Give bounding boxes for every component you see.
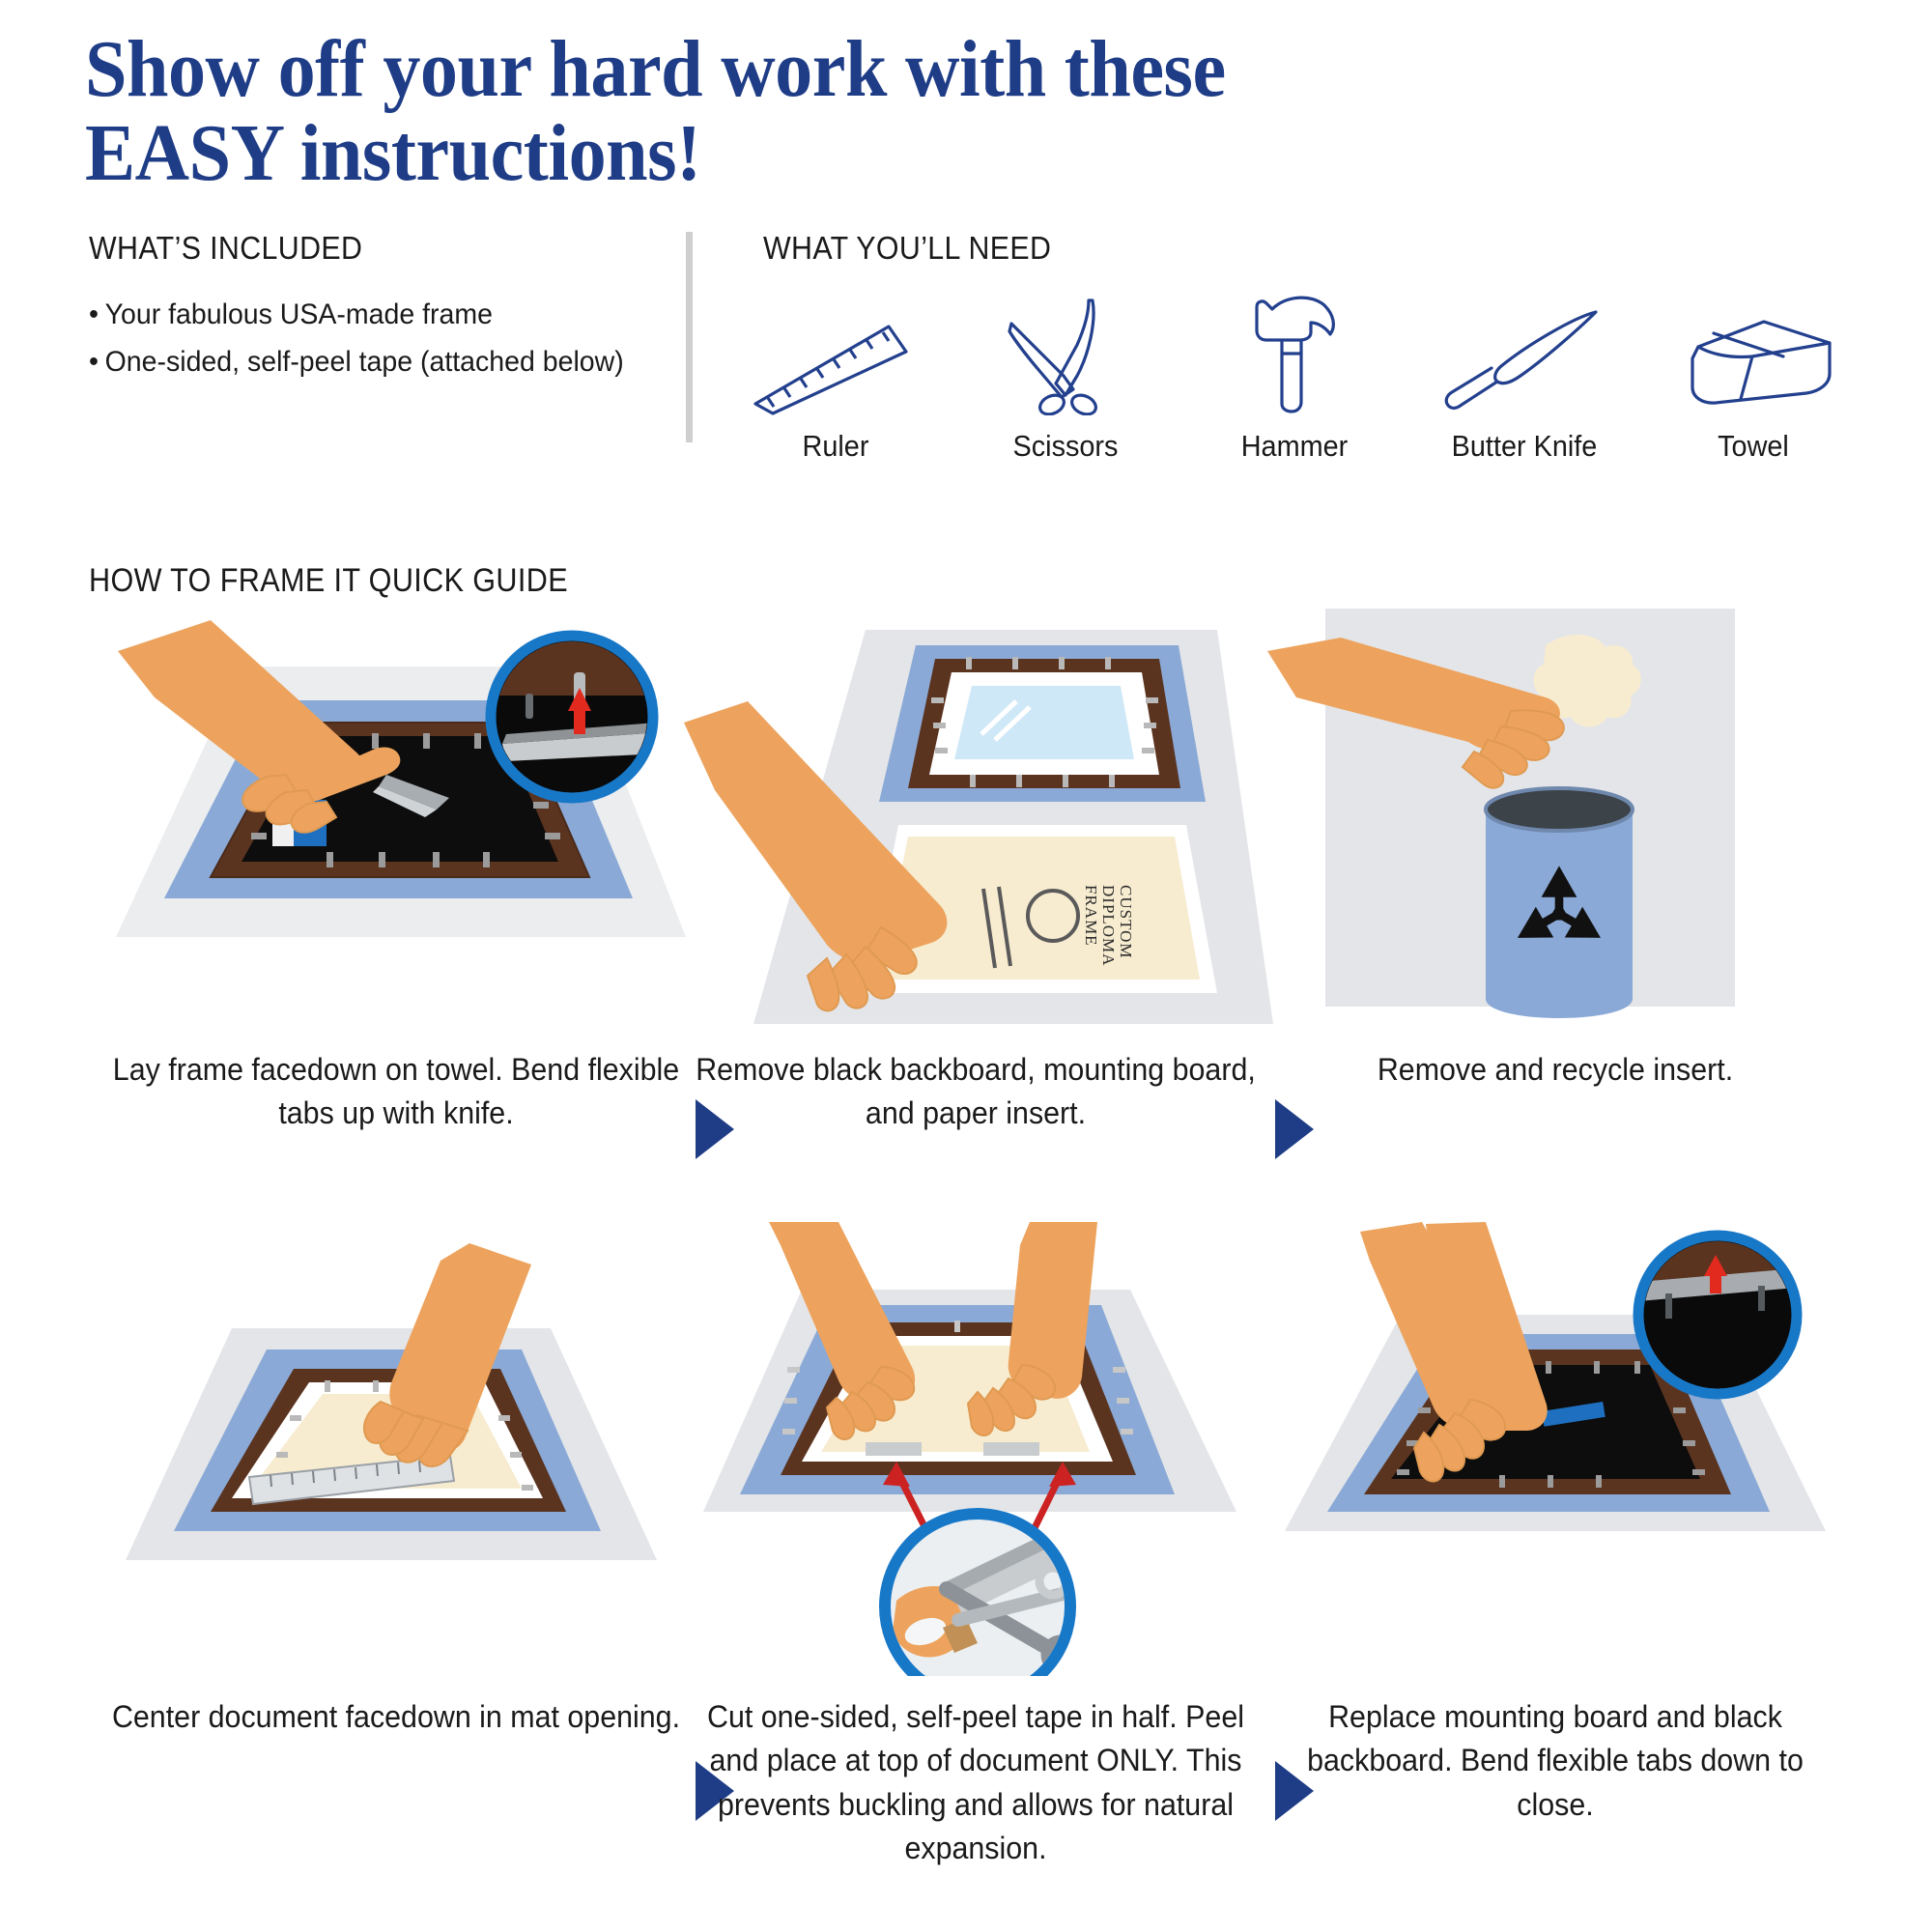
step-caption: Remove black backboard, mounting board, … bbox=[692, 1048, 1261, 1136]
towel-icon bbox=[1652, 290, 1855, 415]
knife-lifting-tab-closeup bbox=[491, 636, 661, 798]
insert-line-1: CUSTOM bbox=[1117, 885, 1135, 959]
center-document-with-ruler-illustration bbox=[97, 1222, 696, 1676]
vertical-divider bbox=[686, 232, 693, 442]
ruler-icon bbox=[734, 290, 937, 415]
step-caption: Remove and recycle insert. bbox=[1271, 1048, 1840, 1092]
tool-ruler: Ruler bbox=[734, 290, 937, 464]
tool-label: Towel bbox=[1659, 429, 1847, 464]
step-3: Remove and recycle insert. bbox=[1256, 609, 1855, 1222]
scissors-icon bbox=[964, 290, 1167, 415]
insert-line-2: DIPLOMA bbox=[1099, 885, 1118, 966]
tool-hammer: Hammer bbox=[1193, 290, 1396, 464]
what-youll-need-section: WHAT YOU’LL NEED bbox=[763, 230, 1864, 267]
step-caption: Center document facedown in mat opening. bbox=[112, 1695, 681, 1739]
scissors-cutting-tape-closeup bbox=[885, 1514, 1076, 1676]
bullet-glyph: • bbox=[89, 339, 99, 386]
butter-knife-icon bbox=[1423, 290, 1626, 415]
step-4: Center document facedown in mat opening. bbox=[97, 1222, 696, 1898]
step-2: CUSTOM DIPLOMA FRAME bbox=[676, 609, 1275, 1222]
place-tape-on-document-illustration bbox=[676, 1222, 1275, 1676]
steps-grid: Lay frame facedown on towel. Bend flexib… bbox=[0, 609, 1932, 1898]
tools-row: Ruler Scissors bbox=[734, 290, 1855, 464]
step-1: Lay frame facedown on towel. Bend flexib… bbox=[97, 609, 696, 1222]
tool-scissors: Scissors bbox=[964, 290, 1167, 464]
tool-label: Hammer bbox=[1200, 429, 1388, 464]
replace-backboard-bend-tabs-illustration bbox=[1256, 1222, 1855, 1676]
recycle-insert-illustration bbox=[1256, 609, 1855, 1034]
whats-included-heading: WHAT’S INCLUDED bbox=[89, 230, 658, 267]
page-title-line2: EASY instructions! bbox=[85, 111, 1522, 195]
frame-facedown-with-knife-illustration bbox=[97, 609, 696, 1034]
whats-included-section: WHAT’S INCLUDED •Your fabulous USA-made … bbox=[89, 230, 707, 385]
page-title: Show off your hard work with these EASY … bbox=[85, 27, 1522, 196]
quick-guide-heading: HOW TO FRAME IT QUICK GUIDE bbox=[89, 562, 568, 600]
step-5: Cut one-sided, self-peel tape in half. P… bbox=[676, 1222, 1275, 1898]
list-item: •Your fabulous USA-made frame bbox=[89, 292, 676, 339]
step-caption: Cut one-sided, self-peel tape in half. P… bbox=[692, 1695, 1261, 1871]
hammer-icon bbox=[1193, 290, 1396, 415]
tool-label: Ruler bbox=[741, 429, 929, 464]
steps-row-1: Lay frame facedown on towel. Bend flexib… bbox=[0, 609, 1932, 1222]
remove-backboard-and-insert-illustration: CUSTOM DIPLOMA FRAME bbox=[676, 609, 1275, 1034]
tool-towel: Towel bbox=[1652, 290, 1855, 464]
insert-line-3: FRAME bbox=[1082, 885, 1100, 947]
step-caption: Lay frame facedown on towel. Bend flexib… bbox=[112, 1048, 681, 1136]
tool-label: Scissors bbox=[971, 429, 1159, 464]
list-item-label: Your fabulous USA-made frame bbox=[105, 298, 493, 330]
list-item-label: One-sided, self-peel tape (attached belo… bbox=[105, 346, 624, 378]
step-6: Replace mounting board and black backboa… bbox=[1256, 1222, 1855, 1898]
bullet-glyph: • bbox=[89, 292, 99, 339]
tab-bent-down-closeup bbox=[1638, 1236, 1797, 1394]
tool-label: Butter Knife bbox=[1430, 429, 1618, 464]
step-caption: Replace mounting board and black backboa… bbox=[1271, 1695, 1840, 1827]
instruction-sheet: Show off your hard work with these EASY … bbox=[0, 0, 1932, 1932]
page-title-line1: Show off your hard work with these bbox=[85, 24, 1226, 114]
steps-row-2: Center document facedown in mat opening. bbox=[0, 1222, 1932, 1898]
what-youll-need-heading: WHAT YOU’LL NEED bbox=[763, 230, 1776, 267]
tool-butter-knife: Butter Knife bbox=[1423, 290, 1626, 464]
whats-included-list: •Your fabulous USA-made frame •One-sided… bbox=[89, 292, 707, 385]
list-item: •One-sided, self-peel tape (attached bel… bbox=[89, 339, 676, 386]
